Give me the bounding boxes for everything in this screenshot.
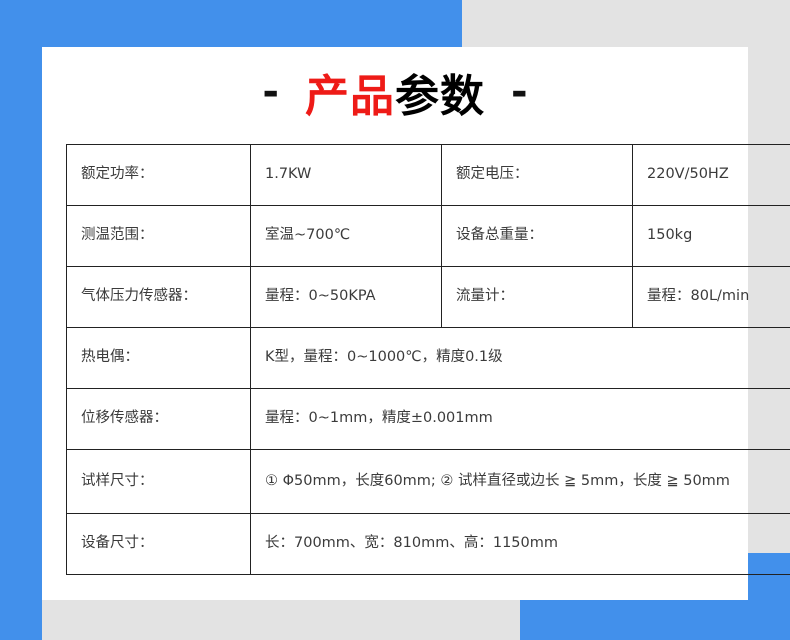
- spec-value: 量程：0~50KPA: [251, 267, 442, 328]
- spec-label: 额定功率：: [67, 145, 251, 206]
- spec-value: 长：700mm、宽：810mm、高：1150mm: [251, 514, 790, 575]
- title-text-parameters: 参数: [395, 71, 485, 122]
- spec-label: 热电偶：: [67, 328, 251, 389]
- decor-bottom-blue-block: [520, 600, 790, 640]
- spec-value: 量程：0~1mm，精度±0.001mm: [251, 389, 790, 450]
- specifications-table: 额定功率： 1.7KW 额定电压： 220V/50HZ 测温范围： 室温~700…: [66, 144, 790, 575]
- table-row: 位移传感器： 量程：0~1mm，精度±0.001mm: [67, 389, 790, 450]
- spec-label: 额定电压：: [442, 145, 633, 206]
- decor-left-blue-bar: [0, 0, 42, 640]
- spec-label: 设备总重量：: [442, 206, 633, 267]
- spec-value: 1.7KW: [251, 145, 442, 206]
- spec-label: 流量计：: [442, 267, 633, 328]
- table-row: 热电偶： K型，量程：0~1000℃，精度0.1级: [67, 328, 790, 389]
- spec-value: 量程：80L/min: [633, 267, 790, 328]
- title-text-product: 产品: [305, 71, 395, 122]
- table-row: 测温范围： 室温~700℃ 设备总重量： 150kg: [67, 206, 790, 267]
- decor-top-blue-bar: [0, 0, 462, 47]
- product-parameters-card: -产品参数- 额定功率： 1.7KW 额定电压： 220V/50HZ 测温范围：…: [42, 47, 748, 600]
- spec-value: 150kg: [633, 206, 790, 267]
- spec-value: ① Φ50mm，长度60mm; ② 试样直径或边长 ≧ 5mm，长度 ≧ 50m…: [251, 450, 790, 514]
- title-dash-left: -: [262, 69, 279, 115]
- spec-label: 测温范围：: [67, 206, 251, 267]
- spec-label: 位移传感器：: [67, 389, 251, 450]
- spec-value: K型，量程：0~1000℃，精度0.1级: [251, 328, 790, 389]
- spec-label: 设备尺寸：: [67, 514, 251, 575]
- table-row: 气体压力传感器： 量程：0~50KPA 流量计： 量程：80L/min: [67, 267, 790, 328]
- spec-label: 试样尺寸：: [67, 450, 251, 514]
- table-row: 额定功率： 1.7KW 额定电压： 220V/50HZ: [67, 145, 790, 206]
- spec-value: 室温~700℃: [251, 206, 442, 267]
- table-row: 设备尺寸： 长：700mm、宽：810mm、高：1150mm: [67, 514, 790, 575]
- spec-value: 220V/50HZ: [633, 145, 790, 206]
- spec-label: 气体压力传感器：: [67, 267, 251, 328]
- title-dash-right: -: [511, 69, 528, 115]
- table-row: 试样尺寸： ① Φ50mm，长度60mm; ② 试样直径或边长 ≧ 5mm，长度…: [67, 450, 790, 514]
- page-title: -产品参数-: [42, 47, 748, 119]
